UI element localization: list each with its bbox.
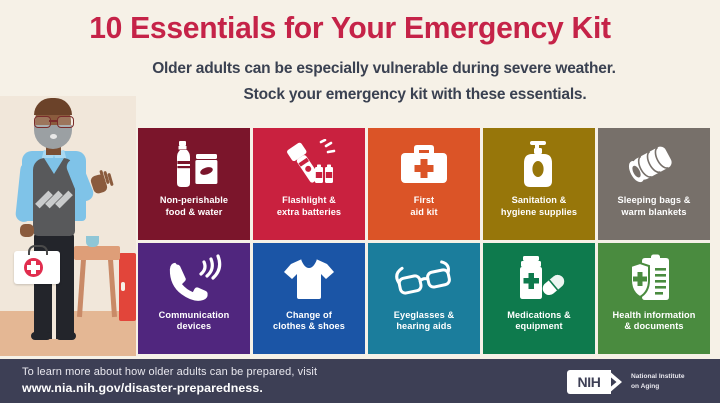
subtitle-line-1: Older adults can be especially vulnerabl…: [60, 60, 708, 78]
figure-hand-left: [20, 224, 34, 237]
tile-label: Eyeglasses &hearing aids: [368, 310, 480, 334]
older-adult-illustration: [0, 96, 136, 356]
figure-shoe-right: [56, 332, 76, 340]
rolled-sleeping-bag-icon: [623, 137, 685, 191]
tile-health-information-documents[interactable]: Health information& documents: [598, 243, 710, 355]
tile-communication-devices[interactable]: Communicationdevices: [138, 243, 250, 355]
cup: [86, 236, 99, 247]
tile-label: Health information& documents: [598, 310, 710, 334]
tile-change-of-clothes[interactable]: Change ofclothes & shoes: [253, 243, 365, 355]
shield-and-clipboard-icon: [625, 252, 683, 306]
tile-label: Communicationdevices: [138, 310, 250, 334]
subtitle-line-2: Stock your emergency kit with these esse…: [120, 86, 710, 104]
first-aid-kit-icon: [396, 137, 452, 191]
tile-sanitation-hygiene[interactable]: Sanitation &hygiene supplies: [483, 128, 595, 240]
tshirt-icon: [281, 252, 337, 306]
soap-dispenser-icon: [515, 137, 563, 191]
tile-label: Non-perishablefood & water: [138, 195, 250, 219]
tile-label: Flashlight &extra batteries: [253, 195, 365, 219]
cabinet-knob: [121, 282, 125, 291]
tile-flashlight-batteries[interactable]: Flashlight &extra batteries: [253, 128, 365, 240]
nih-chevron-icon: [608, 370, 625, 394]
glasses-bridge: [49, 120, 57, 122]
nih-logo: NIH National Institute on Aging: [567, 369, 697, 394]
footer-bar: To learn more about how older adults can…: [0, 359, 720, 403]
tile-first-aid-kit[interactable]: Firstaid kit: [368, 128, 480, 240]
figure-shoe-left: [31, 332, 51, 340]
first-aid-cross-horizontal: [27, 265, 40, 270]
tile-label: Medications &equipment: [483, 310, 595, 334]
side-table: [74, 246, 120, 260]
tile-label: Firstaid kit: [368, 195, 480, 219]
figure-mouth: [50, 134, 57, 139]
first-aid-kit-handle: [28, 245, 48, 255]
tile-label: Sanitation &hygiene supplies: [483, 195, 595, 219]
tile-label: Change ofclothes & shoes: [253, 310, 365, 334]
footer-text: To learn more about how older adults can…: [22, 366, 317, 378]
nih-wordmark: NIH: [578, 374, 601, 390]
figure-vest-neckline: [44, 158, 64, 174]
tile-non-perishable-food-water[interactable]: Non-perishablefood & water: [138, 128, 250, 240]
tile-eyeglasses-hearing-aids[interactable]: Eyeglasses &hearing aids: [368, 243, 480, 355]
lens-right: [57, 116, 74, 128]
tile-sleeping-bags-blankets[interactable]: Sleeping bags &warm blankets: [598, 128, 710, 240]
infographic-root: 10 Essentials for Your Emergency Kit Old…: [0, 0, 720, 403]
tile-label: Sleeping bags &warm blankets: [598, 195, 710, 219]
page-title: 10 Essentials for Your Emergency Kit: [11, 12, 690, 45]
flashlight-and-batteries-icon: [279, 137, 339, 191]
essentials-grid: Non-perishablefood & water: [138, 128, 710, 354]
figure-leg-gap: [52, 276, 56, 339]
nih-wordmark-box: NIH: [567, 370, 624, 394]
phone-with-signal-icon: [165, 252, 223, 306]
nih-institute-name: National Institute on Aging: [631, 372, 684, 391]
tile-medications-equipment[interactable]: Medications &equipment: [483, 243, 595, 355]
eyeglasses-icon: [393, 252, 455, 306]
water-bottle-and-food-jar-icon: [165, 137, 223, 191]
eyeglasses-icon: [33, 116, 74, 126]
lens-left: [34, 116, 51, 128]
footer-url[interactable]: www.nia.nih.gov/disaster-preparedness.: [22, 381, 263, 395]
medicine-bottle-and-pills-icon: [509, 252, 569, 306]
nih-plate: NIH: [567, 370, 611, 394]
